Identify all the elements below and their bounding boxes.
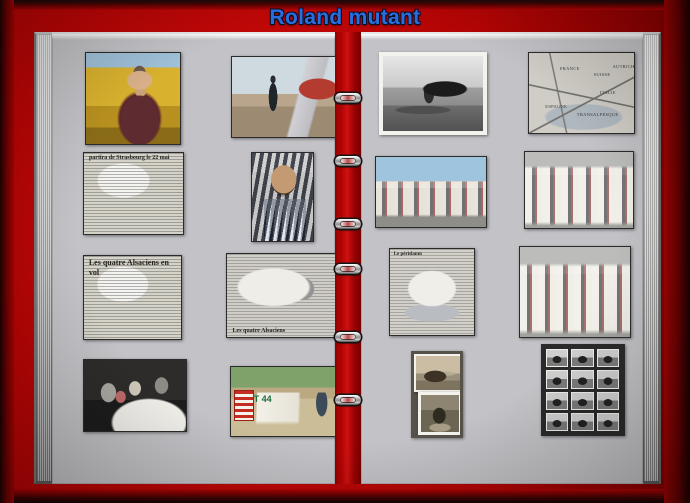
contact-sheet-frame[interactable] xyxy=(597,413,620,431)
photo-man-with-red-aircraft[interactable] xyxy=(231,56,335,138)
contact-sheet-frame[interactable] xyxy=(597,392,620,410)
striped-tail xyxy=(234,390,253,421)
clipping-strasbourg-route-map[interactable]: partira de Strasbourg le 22 mai xyxy=(83,152,184,235)
photo-bearded-man-striped-shirt[interactable] xyxy=(251,152,314,242)
photo-image xyxy=(416,356,460,390)
right-page-edge-stack xyxy=(643,32,661,484)
binding-ring-1[interactable] xyxy=(335,93,361,103)
photo-group-white-shirts[interactable] xyxy=(524,151,634,229)
photo-image xyxy=(86,53,180,144)
cover-left-shadow xyxy=(0,0,14,503)
binding-ring-2[interactable] xyxy=(335,156,361,166)
clipping-headline: partira de Strasbourg le 22 mai xyxy=(89,155,179,163)
photo-bw-horse-group[interactable] xyxy=(379,52,487,135)
contact-sheet-frame[interactable] xyxy=(546,413,569,431)
map-label-espagne: ESPAGNE xyxy=(545,104,567,109)
contact-sheet-frame[interactable] xyxy=(546,392,569,410)
photo-sepia-shoreline[interactable] xyxy=(414,354,460,392)
contact-sheet-frame[interactable] xyxy=(571,370,594,388)
cover-bottom-shadow xyxy=(0,489,690,503)
map-label-autriche: AUTRICHE xyxy=(613,64,634,69)
contact-sheet-frame[interactable] xyxy=(546,370,569,388)
clipping-les-quatre-alsaciens-en-vol[interactable]: Les quatre Alsaciens en vol xyxy=(83,255,182,340)
clipping-image: Les quatre Alsaciens en vol xyxy=(84,256,181,339)
photo-glider-t44[interactable]: T 44 xyxy=(230,366,335,437)
contact-sheet-bw[interactable] xyxy=(541,344,625,436)
photo-sepia-figure[interactable] xyxy=(418,392,460,435)
photo-image xyxy=(421,395,459,432)
binding-ring-5[interactable] xyxy=(335,332,361,342)
map-label-suisse: SUISSE xyxy=(594,72,611,77)
left-page-edge-stack xyxy=(34,32,52,484)
page-title: Roland mutant xyxy=(0,6,690,30)
clipping-image: partira de Strasbourg le 22 mai xyxy=(84,153,183,234)
photo-image xyxy=(252,153,313,241)
map-label-italie: ITALIE xyxy=(600,90,616,95)
photo-image xyxy=(376,157,486,227)
contact-sheet-grid xyxy=(546,349,620,431)
photo-image xyxy=(520,247,630,337)
left-album-page: partira de Strasbourg le 22 mai Les quat… xyxy=(52,32,335,484)
contact-sheet-frame[interactable] xyxy=(571,413,594,431)
contact-sheet-frame[interactable] xyxy=(571,349,594,367)
contact-sheet-frame[interactable] xyxy=(597,349,620,367)
photo-image xyxy=(383,56,483,131)
sepia-pair-inner xyxy=(414,354,460,435)
binding-ring-4[interactable] xyxy=(335,264,361,274)
album-binding-spine xyxy=(335,32,361,484)
glider-registration: T 44 xyxy=(254,395,272,404)
striped-shirt-region xyxy=(264,199,306,241)
clipping-headline: Les quatre Alsaciens en vol xyxy=(89,258,177,276)
binding-ring-6[interactable] xyxy=(335,395,361,405)
map-image: FRANCE SUISSE AUTRICHE ITALIE ESPAGNE TR… xyxy=(529,53,634,133)
photo-group-under-canopy[interactable] xyxy=(519,246,631,338)
face-region xyxy=(274,167,292,193)
clipping-le-perislanm-cockpit[interactable]: Le périslanm xyxy=(389,248,475,336)
sepia-photo-pair-mount[interactable] xyxy=(411,351,463,438)
photo-image xyxy=(84,360,186,431)
photo-crowd-around-aircraft-dark[interactable] xyxy=(83,359,187,432)
clipping-image: Les quatre Alsaciens xyxy=(227,254,335,337)
clipping-image: Le périslanm xyxy=(390,249,474,335)
clipping-headline: Les quatre Alsaciens xyxy=(233,328,334,335)
photo-image xyxy=(525,152,633,228)
right-page-highlight xyxy=(361,34,644,40)
binding-ring-3[interactable] xyxy=(335,219,361,229)
map-label-transalpesque: TRANSALPESQUE xyxy=(577,112,619,117)
map-transalpesque-route[interactable]: FRANCE SUISSE AUTRICHE ITALIE ESPAGNE TR… xyxy=(528,52,635,134)
contact-sheet-frame[interactable] xyxy=(571,392,594,410)
photo-group-on-tarmac[interactable] xyxy=(375,156,487,228)
cover-right-shadow xyxy=(664,0,690,503)
right-album-page: FRANCE SUISSE AUTRICHE ITALIE ESPAGNE TR… xyxy=(361,32,644,484)
photo-image: T 44 xyxy=(231,367,335,436)
contact-sheet-frame[interactable] xyxy=(597,370,620,388)
clipping-headline: Le périslanm xyxy=(394,252,470,258)
screenshot-root: Roland mutant partira de Strasbourg le 2… xyxy=(0,0,690,503)
photo-image xyxy=(232,57,335,137)
map-label-france: FRANCE xyxy=(560,66,580,71)
photo-portrait-man-autumn[interactable] xyxy=(85,52,181,145)
contact-sheet-frame[interactable] xyxy=(546,349,569,367)
clipping-aircraft-les-quatre-alsaciens[interactable]: Les quatre Alsaciens xyxy=(226,253,335,338)
left-page-highlight xyxy=(52,34,335,40)
open-photo-album: partira de Strasbourg le 22 mai Les quat… xyxy=(34,32,661,484)
